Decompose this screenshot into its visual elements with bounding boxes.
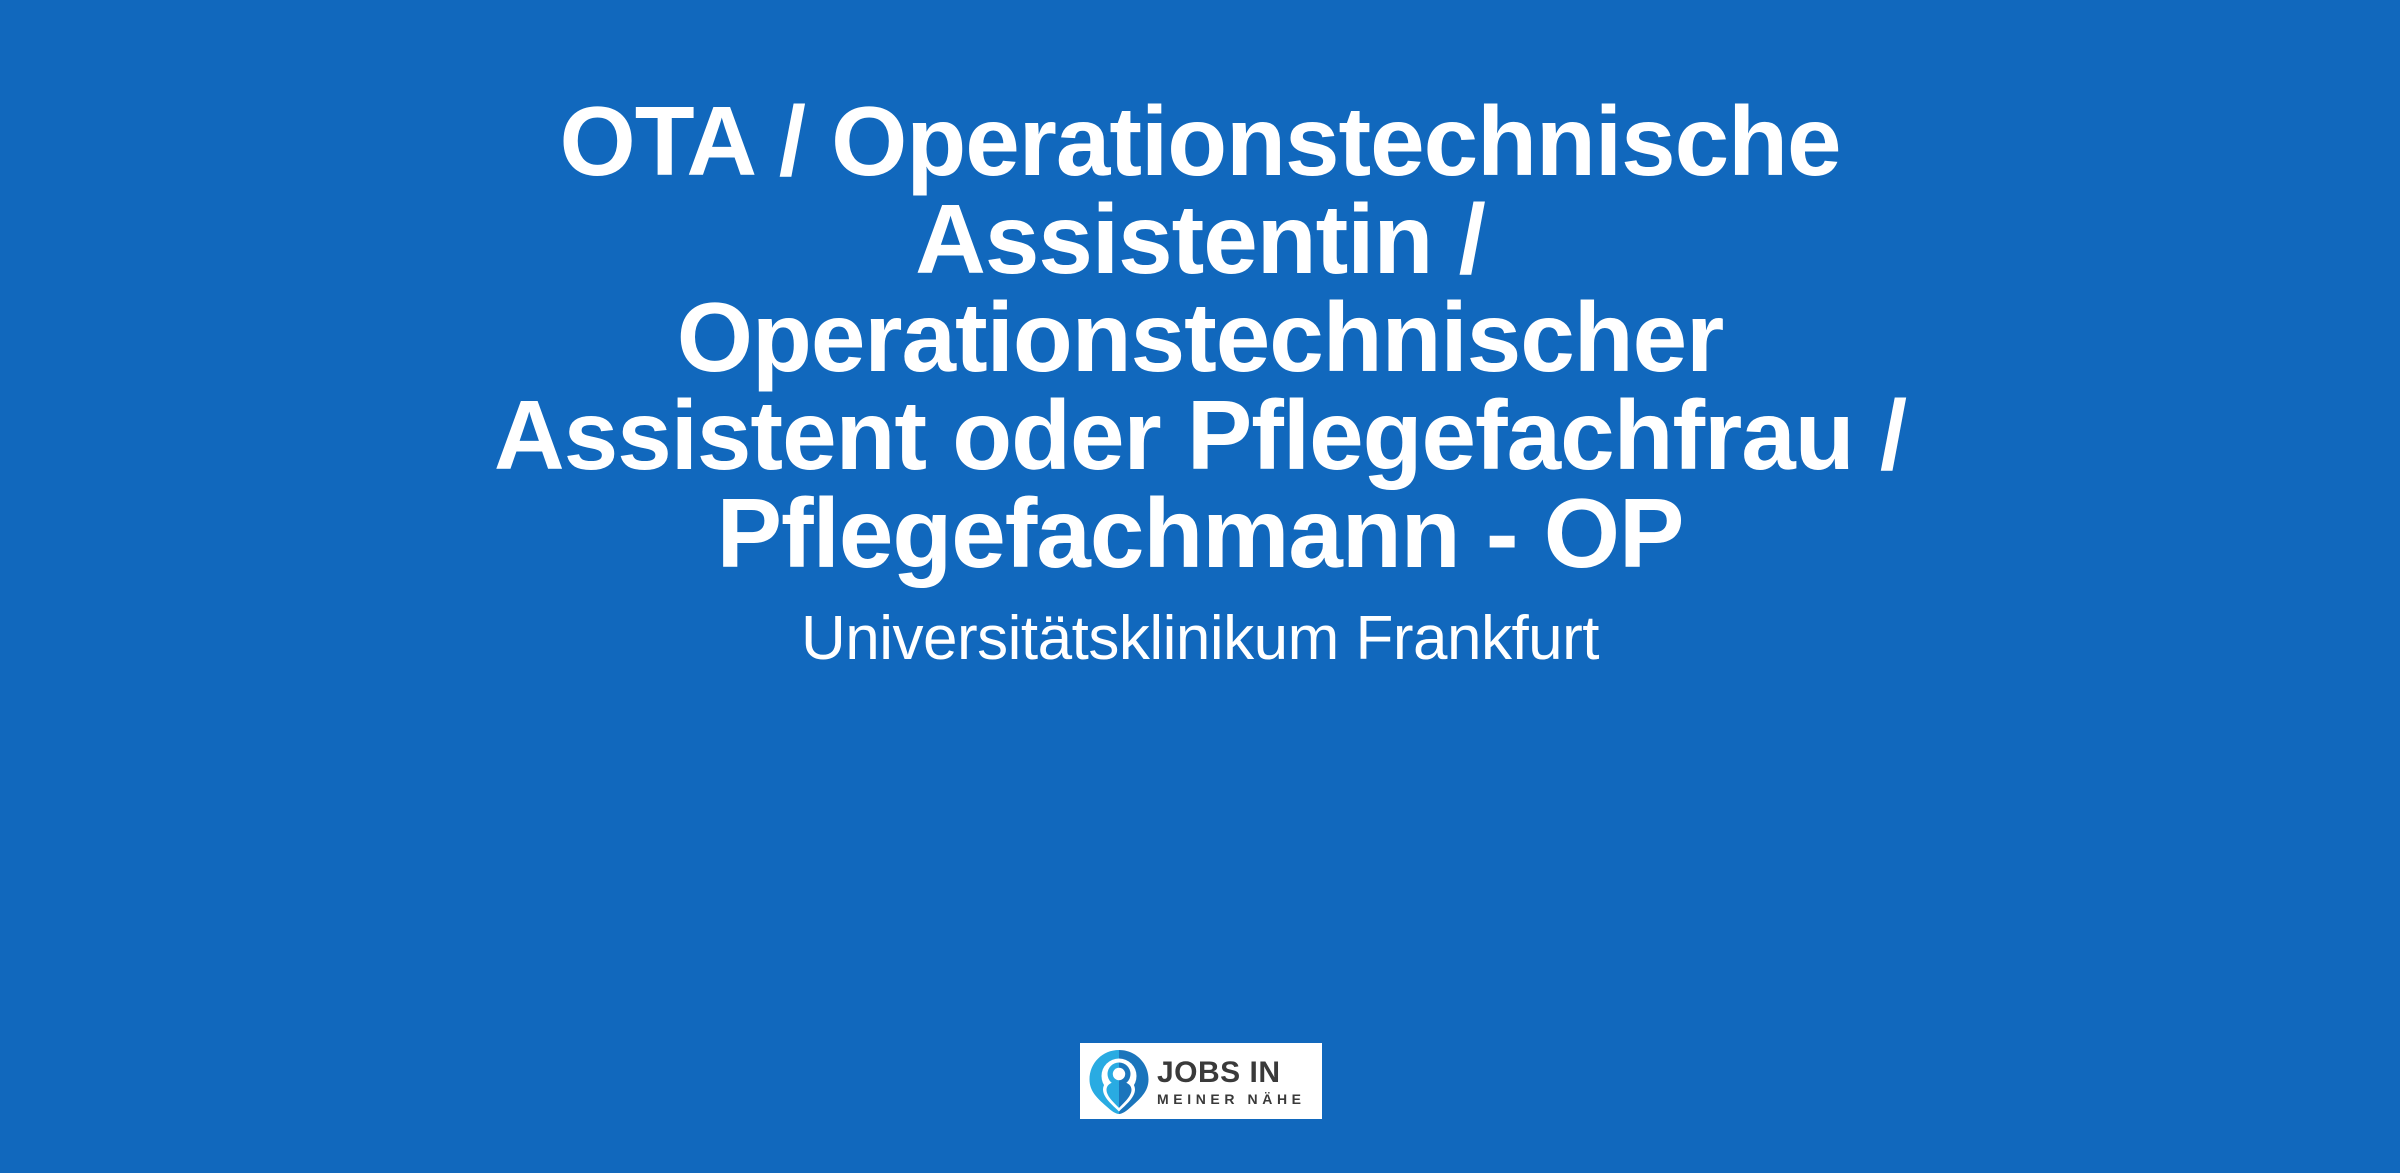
title-line-5: Pflegefachmann - OP [270,484,2130,582]
employer-name: Universitätsklinikum Frankfurt [270,604,2130,674]
headline-block: OTA / Operationstechnische Assistentin /… [270,92,2130,674]
map-pin-person-icon [1088,1048,1150,1114]
page-title: OTA / Operationstechnische Assistentin /… [270,92,2130,582]
title-line-1: OTA / Operationstechnische [270,92,2130,190]
title-line-3: Operationstechnischer [270,288,2130,386]
title-line-2: Assistentin / [270,190,2130,288]
job-banner: OTA / Operationstechnische Assistentin /… [0,0,2400,1173]
site-logo[interactable]: JOBS IN MEINER NÄHE [1080,1043,1322,1119]
logo-wordmark: JOBS IN MEINER NÄHE [1157,1048,1306,1114]
logo-text-secondary: MEINER NÄHE [1157,1090,1306,1108]
title-line-4: Assistent oder Pflegefachfrau / [270,386,2130,484]
logo-text-primary: JOBS IN [1157,1057,1306,1088]
